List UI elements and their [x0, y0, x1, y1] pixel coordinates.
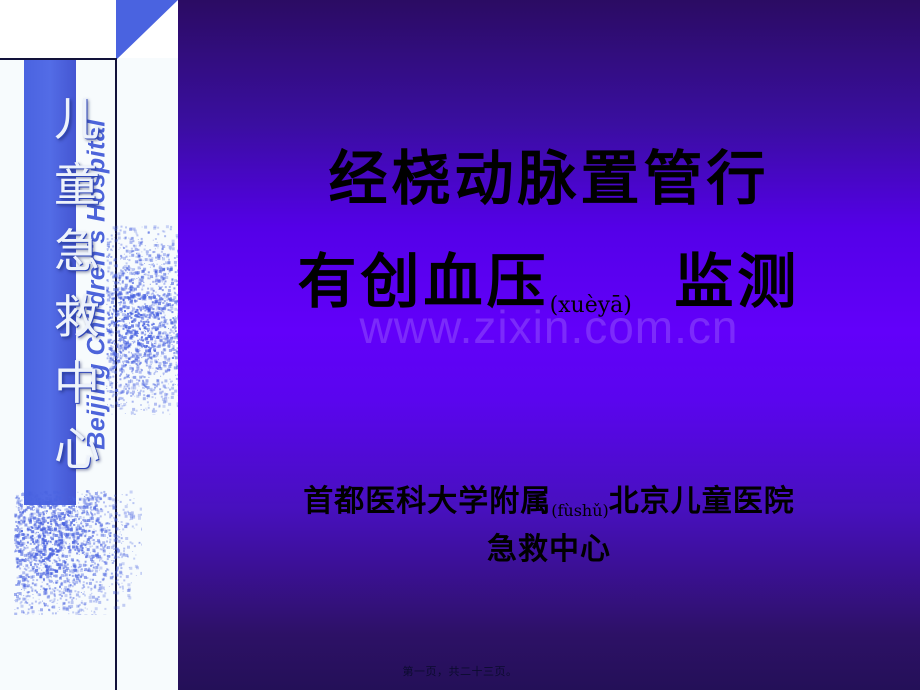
slide-title-line2-text: 有创血压	[298, 247, 550, 316]
slide-title-line1: 经桡动脉置管行	[178, 131, 920, 216]
left-decorative-panel: Beijing Children's Hospital 儿 童 急 救 中 心	[0, 0, 178, 690]
sidebar-char-1: 童	[46, 152, 108, 218]
pinyin-fushu: (fùshǔ)	[551, 501, 609, 520]
subtitle-line1-tail: 北京儿童医院	[609, 484, 795, 519]
hospital-chinese-name: 儿 童 急 救 中 心	[46, 86, 108, 482]
sidebar-char-3: 救	[46, 284, 108, 350]
slide-page-footer: 第一页，共二十三页。	[0, 663, 920, 679]
subtitle-line1: 首都医科大学附属(fùshǔ)北京儿童医院	[178, 476, 920, 520]
slide-title-line2: 有创血压(xuèyā) 监测	[178, 234, 920, 319]
subtitle-line1-text: 首都医科大学附属	[303, 484, 551, 519]
presentation-slide: Beijing Children's Hospital 儿 童 急 救 中 心 …	[0, 0, 920, 690]
title-block: 经桡动脉置管行 有创血压(xuèyā) 监测	[178, 0, 920, 690]
subtitle-line2: 急救中心	[178, 524, 920, 568]
pinyin-xueya: (xuèyā)	[550, 293, 632, 318]
sidebar-char-0: 儿	[46, 86, 108, 152]
speckle-texture-lower	[14, 490, 142, 615]
sidebar-char-4: 中	[46, 350, 108, 416]
vertical-divider-line	[115, 58, 117, 690]
sidebar-char-2: 急	[46, 218, 108, 284]
sidebar-char-5: 心	[46, 416, 108, 482]
slide-title-line2-tail: 监测	[674, 247, 800, 316]
